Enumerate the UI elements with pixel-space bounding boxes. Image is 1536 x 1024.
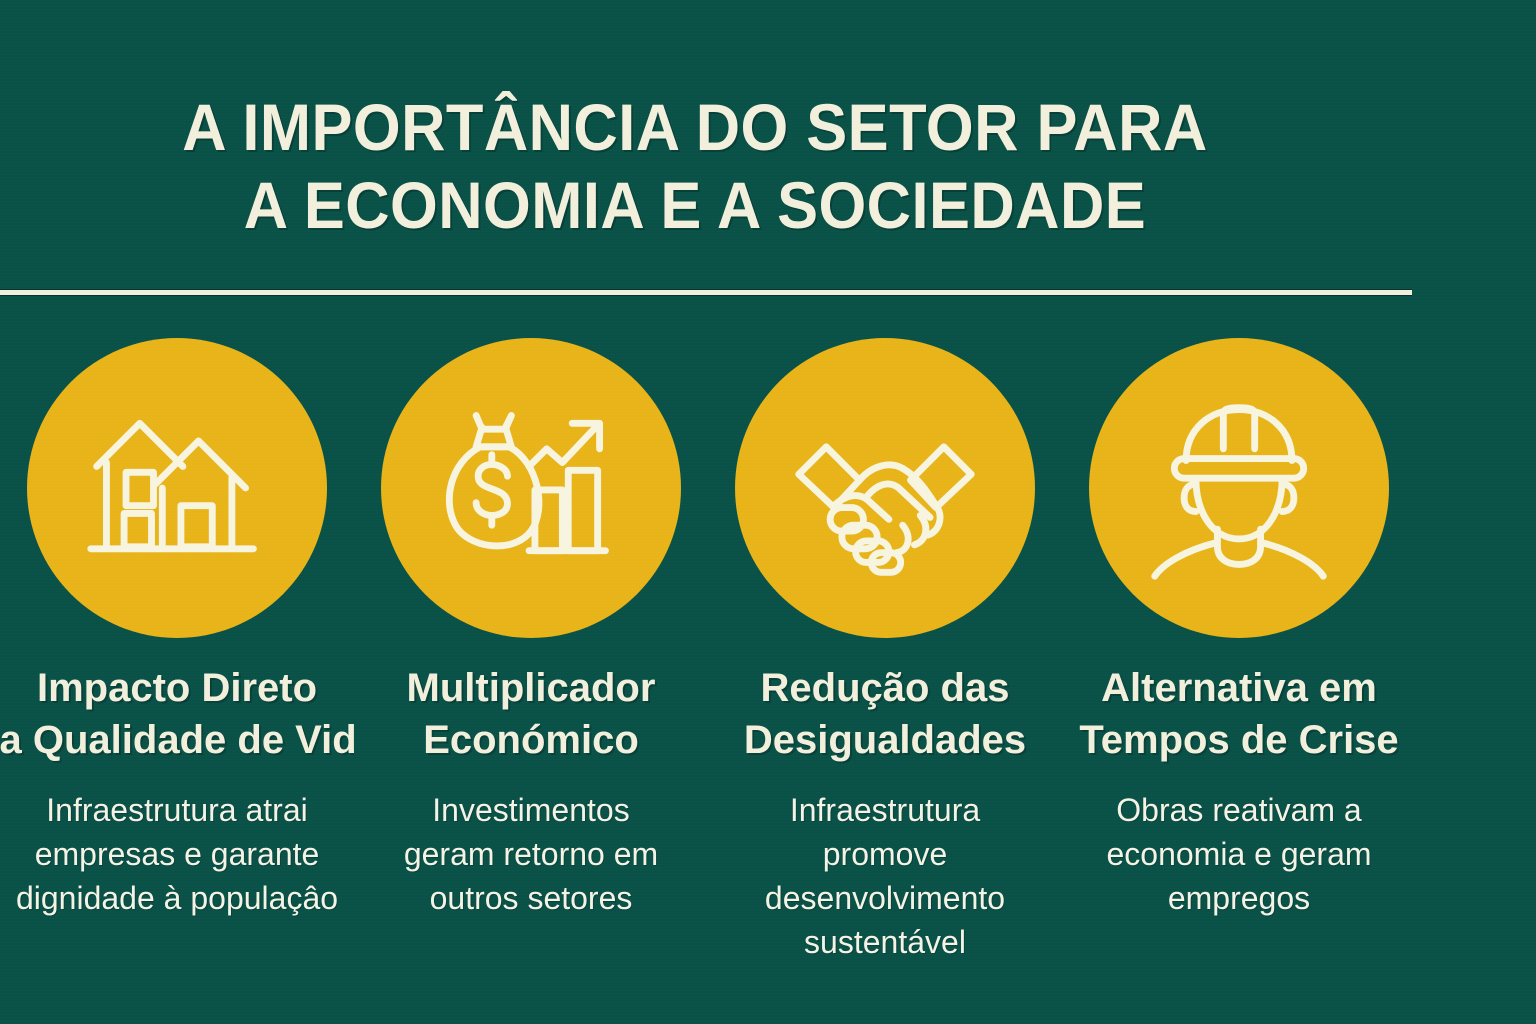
feature-column-alternativa-crise: Alternativa em Tempos de Crise Obras rea… [1062,338,1416,920]
money-bag-growth-icon [433,390,629,586]
feature-body-line-3: outros setores [404,876,658,920]
feature-body-line-2: economia e geram [1106,832,1371,876]
feature-body-line-4: sustentável [765,920,1005,964]
page-title: A IMPORTÂNCIA DO SETOR PARA A ECONOMIA E… [0,88,1390,244]
money-bag-growth-icon-circle [381,338,681,638]
feature-body-line-2: geram retorno em [404,832,658,876]
house-icon-circle [27,338,327,638]
feature-body-line-1: Infraestrutura atrai [16,788,338,832]
feature-title-line-2: Desigualdades [744,714,1026,766]
feature-title-line-1: Multiplicador [407,662,656,714]
construction-worker-icon-circle [1089,338,1389,638]
feature-title: Alternativa em Tempos de Crise [1079,662,1398,766]
feature-body-line-3: dignidade à populaçâo [16,876,338,920]
feature-title-line-2: na Qualidade de Vida [0,714,354,766]
feature-column-impacto-direto: Impacto Direto na Qualidade de Vida Infr… [0,338,354,920]
feature-body: Investimentos geram retorno em outros se… [404,788,658,920]
feature-body-line-1: Infraestrutura [765,788,1005,832]
feature-body: Infraestrutura atrai empresas e garante … [16,788,338,920]
feature-title-line-1: Alternativa em [1079,662,1398,714]
page-title-line-2: A ECONOMIA E A SOCIEDADE [49,166,1342,244]
feature-body: Obras reativam a economia e geram empreg… [1106,788,1371,920]
page-title-line-1: A IMPORTÂNCIA DO SETOR PARA [49,88,1342,166]
feature-body-line-1: Obras reativam a [1106,788,1371,832]
feature-title-line-2: Económico [407,714,656,766]
feature-title: Impacto Direto na Qualidade de Vida [0,662,354,766]
feature-title: Multiplicador Económico [407,662,656,766]
header-divider [0,290,1412,295]
feature-title-line-1: Impacto Direto [0,662,354,714]
feature-title-line-2: Tempos de Crise [1079,714,1398,766]
feature-body-line-3: desenvolvimento [765,876,1005,920]
feature-body: Infraestrutura promove desenvolvimento s… [765,788,1005,964]
feature-body-line-2: empresas e garante [16,832,338,876]
feature-columns: Impacto Direto na Qualidade de Vida Infr… [0,338,1416,964]
feature-body-line-1: Investimentos [404,788,658,832]
feature-body-line-3: empregos [1106,876,1371,920]
handshake-icon-circle [735,338,1035,638]
feature-column-reducao-desigualdades: Redução das Desigualdades Infraestrutura… [708,338,1062,964]
construction-worker-icon [1141,390,1337,586]
house-icon [79,390,275,586]
feature-column-multiplicador-economico: Multiplicador Económico Investimentos ge… [354,338,708,920]
handshake-icon [787,390,983,586]
feature-body-line-2: promove [765,832,1005,876]
feature-title: Redução das Desigualdades [744,662,1026,766]
feature-title-line-1: Redução das [744,662,1026,714]
